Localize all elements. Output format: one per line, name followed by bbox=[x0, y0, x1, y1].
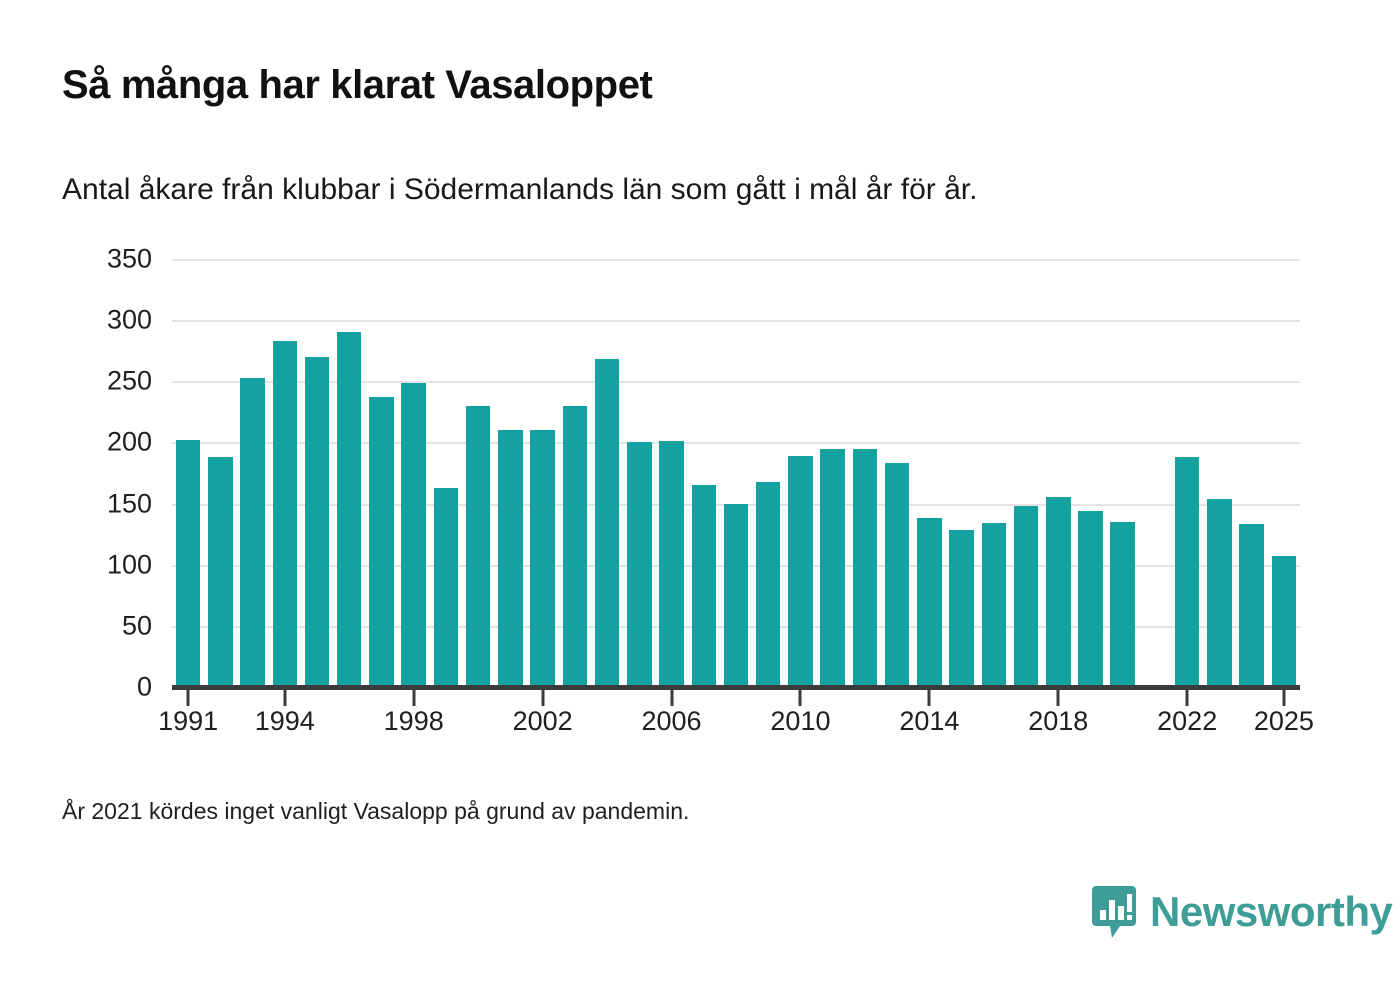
y-axis-tick-label: 250 bbox=[107, 368, 152, 395]
bar-chart-speech-bubble-icon bbox=[1090, 884, 1138, 940]
bar[interactable] bbox=[885, 463, 909, 687]
y-axis-tick-label: 200 bbox=[107, 429, 152, 456]
bar[interactable] bbox=[1175, 457, 1199, 687]
x-axis-tick-label: 2018 bbox=[1028, 708, 1088, 735]
bar[interactable] bbox=[530, 430, 554, 687]
x-axis-tick-label: 1998 bbox=[384, 708, 444, 735]
newsworthy-logo: Newsworthy bbox=[1090, 884, 1392, 940]
x-axis-tick-label: 2006 bbox=[641, 708, 701, 735]
chart-page: Så många har klarat Vasaloppet Antal åka… bbox=[0, 0, 1400, 1000]
bar[interactable] bbox=[1239, 524, 1263, 687]
bar[interactable] bbox=[756, 482, 780, 687]
chart-footnote: År 2021 kördes inget vanligt Vasalopp på… bbox=[62, 798, 689, 825]
x-axis-tick-label: 1994 bbox=[255, 708, 315, 735]
x-axis-tick bbox=[1057, 690, 1060, 706]
x-axis-tick bbox=[283, 690, 286, 706]
x-axis-tick bbox=[541, 690, 544, 706]
y-axis-tick-label: 350 bbox=[107, 246, 152, 273]
x-axis-tick bbox=[412, 690, 415, 706]
x-axis-tick bbox=[670, 690, 673, 706]
bar[interactable] bbox=[563, 406, 587, 687]
bar[interactable] bbox=[1272, 556, 1296, 687]
y-axis-tick-label: 0 bbox=[137, 674, 152, 701]
x-axis-tick-label: 2014 bbox=[899, 708, 959, 735]
bar[interactable] bbox=[434, 488, 458, 687]
bar[interactable] bbox=[240, 378, 264, 687]
y-axis-tick-label: 50 bbox=[122, 612, 152, 639]
x-axis-tick-label: 2022 bbox=[1157, 708, 1217, 735]
y-axis-tick-label: 100 bbox=[107, 551, 152, 578]
x-axis-tick-label: 2010 bbox=[770, 708, 830, 735]
bar[interactable] bbox=[1014, 506, 1038, 687]
bar[interactable] bbox=[498, 430, 522, 687]
x-axis-tick-label: 1991 bbox=[158, 708, 218, 735]
bar-chart: 050100150200250300350 199119941998200220… bbox=[0, 0, 1400, 1000]
x-axis-tick bbox=[928, 690, 931, 706]
logo-wordmark: Newsworthy bbox=[1150, 891, 1392, 933]
bar[interactable] bbox=[724, 504, 748, 687]
bar[interactable] bbox=[788, 456, 812, 687]
bar[interactable] bbox=[1110, 522, 1134, 687]
x-axis-tick bbox=[1186, 690, 1189, 706]
bar[interactable] bbox=[176, 440, 200, 687]
bar[interactable] bbox=[466, 406, 490, 687]
bar[interactable] bbox=[401, 383, 425, 687]
bar[interactable] bbox=[692, 485, 716, 687]
x-axis-tick bbox=[1282, 690, 1285, 706]
bar[interactable] bbox=[595, 359, 619, 687]
x-axis-tick bbox=[187, 690, 190, 706]
bar[interactable] bbox=[369, 397, 393, 687]
bar[interactable] bbox=[1078, 511, 1102, 687]
x-axis-line bbox=[172, 685, 1300, 690]
x-axis-tick-label: 2025 bbox=[1254, 708, 1314, 735]
bar[interactable] bbox=[659, 441, 683, 687]
y-axis-tick-label: 300 bbox=[107, 307, 152, 334]
bar[interactable] bbox=[820, 449, 844, 687]
bar[interactable] bbox=[853, 449, 877, 687]
x-axis-tick bbox=[799, 690, 802, 706]
y-axis-tick-label: 150 bbox=[107, 490, 152, 517]
bar[interactable] bbox=[627, 442, 651, 687]
bar[interactable] bbox=[1046, 497, 1070, 687]
x-axis-tick-label: 2002 bbox=[513, 708, 573, 735]
bar[interactable] bbox=[208, 457, 232, 687]
bar[interactable] bbox=[949, 530, 973, 687]
bar[interactable] bbox=[982, 523, 1006, 687]
bar[interactable] bbox=[305, 357, 329, 687]
bar[interactable] bbox=[1207, 499, 1231, 687]
bar[interactable] bbox=[337, 332, 361, 687]
bar[interactable] bbox=[917, 518, 941, 687]
bar[interactable] bbox=[273, 341, 297, 687]
bars-container bbox=[172, 259, 1300, 687]
